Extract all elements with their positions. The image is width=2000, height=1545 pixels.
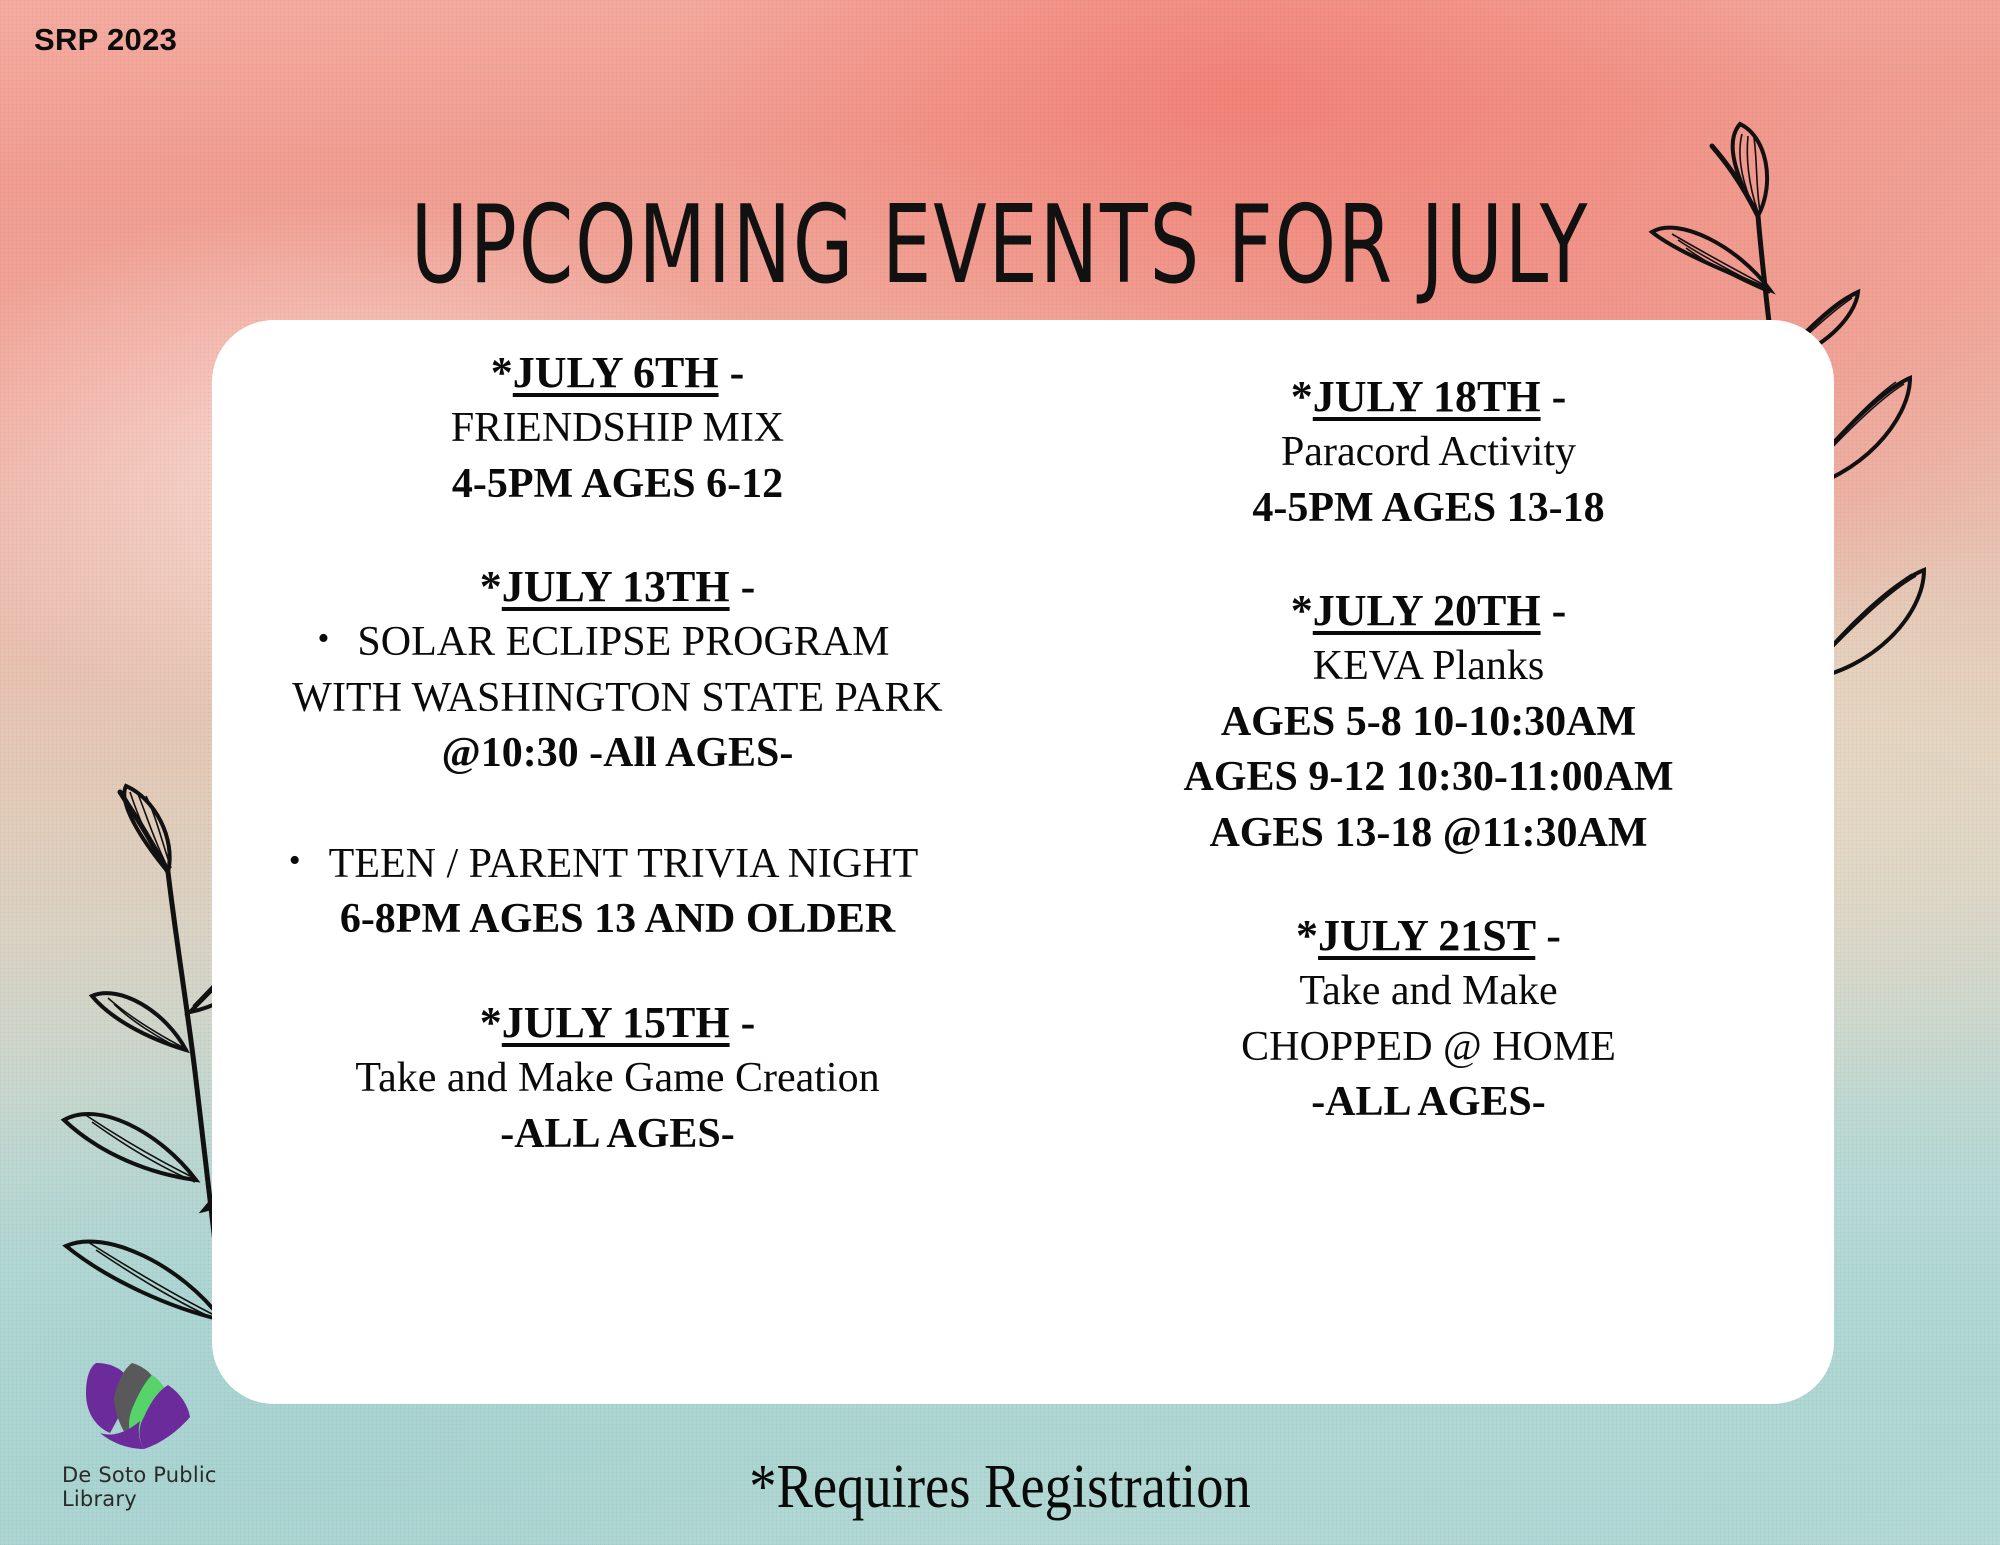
event-block: *JULY 18TH -Paracord Activity4-5PM AGES … xyxy=(1047,368,1810,536)
event-date: JULY 15TH xyxy=(502,998,730,1047)
event-date-dash: - xyxy=(1541,372,1567,421)
events-card: *JULY 6TH -FRIENDSHIP MIX4-5PM AGES 6-12… xyxy=(212,320,1834,1404)
asterisk-marker: * xyxy=(1296,911,1318,960)
event-date-heading: *JULY 13TH - xyxy=(236,558,999,615)
event-date-heading: *JULY 18TH - xyxy=(1047,368,1810,425)
event-detail-line: KEVA Planks xyxy=(1047,639,1810,694)
event-detail-line: @10:30 -All AGES- xyxy=(236,726,999,781)
srp-year-tag: SRP 2023 xyxy=(34,22,177,58)
asterisk-marker: * xyxy=(480,562,502,611)
event-detail-line: AGES 5-8 10-10:30AM xyxy=(1047,695,1810,750)
event-detail-line: FRIENDSHIP MIX xyxy=(236,401,999,456)
event-block: *JULY 6TH -FRIENDSHIP MIX4-5PM AGES 6-12 xyxy=(236,344,999,512)
event-date: JULY 6TH xyxy=(513,348,719,397)
open-book-fan-icon xyxy=(80,1357,198,1457)
event-detail-line: 6-8PM AGES 13 AND OLDER xyxy=(236,892,999,947)
event-detail-line: Paracord Activity xyxy=(1047,425,1810,480)
event-date-heading: *JULY 15TH - xyxy=(236,994,999,1051)
events-columns: *JULY 6TH -FRIENDSHIP MIX4-5PM AGES 6-12… xyxy=(212,320,1834,1404)
event-date: JULY 21ST xyxy=(1318,911,1535,960)
event-date-heading: *JULY 21ST - xyxy=(1047,907,1810,964)
library-name: De Soto Public Library xyxy=(62,1463,292,1511)
event-date-dash: - xyxy=(730,998,756,1047)
events-column-left: *JULY 6TH -FRIENDSHIP MIX4-5PM AGES 6-12… xyxy=(212,320,1023,1404)
event-date-dash: - xyxy=(719,348,745,397)
event-date-dash: - xyxy=(730,562,756,611)
registration-note: *Requires Registration xyxy=(120,1452,1880,1523)
event-detail-line: 4-5PM AGES 6-12 xyxy=(236,457,999,512)
event-block: *JULY 13TH -SOLAR ECLIPSE PROGRAMWITH WA… xyxy=(236,558,999,948)
event-date: JULY 18TH xyxy=(1313,372,1541,421)
event-detail-line: 4-5PM AGES 13-18 xyxy=(1047,481,1810,536)
events-column-right: *JULY 18TH -Paracord Activity4-5PM AGES … xyxy=(1023,320,1834,1404)
asterisk-marker: * xyxy=(1291,586,1313,635)
asterisk-marker: * xyxy=(491,348,513,397)
event-detail-line: -ALL AGES- xyxy=(1047,1075,1810,1130)
event-date-heading: *JULY 20TH - xyxy=(1047,582,1810,639)
event-block: *JULY 21ST -Take and MakeCHOPPED @ HOME-… xyxy=(1047,907,1810,1131)
event-detail-line: SOLAR ECLIPSE PROGRAM xyxy=(236,615,999,670)
event-detail-line: Take and Make Game Creation xyxy=(236,1051,999,1106)
event-detail-line: WITH WASHINGTON STATE PARK xyxy=(236,671,999,726)
event-date-dash: - xyxy=(1535,911,1561,960)
event-date-dash: - xyxy=(1541,586,1567,635)
asterisk-marker: * xyxy=(480,998,502,1047)
event-detail-line: -ALL AGES- xyxy=(236,1107,999,1162)
event-block: *JULY 15TH -Take and Make Game Creation-… xyxy=(236,994,999,1162)
library-logo: De Soto Public Library xyxy=(62,1357,292,1511)
event-poster: SRP 2023 UPCOMING EVENTS FOR JULY *JULY … xyxy=(0,0,2000,1545)
asterisk-marker: * xyxy=(1291,372,1313,421)
event-detail-line: CHOPPED @ HOME xyxy=(1047,1020,1810,1075)
event-detail-line: Take and Make xyxy=(1047,964,1810,1019)
event-date-heading: *JULY 6TH - xyxy=(236,344,999,401)
event-detail-line: AGES 13-18 @11:30AM xyxy=(1047,806,1810,861)
event-spacer xyxy=(236,782,999,837)
event-date: JULY 20TH xyxy=(1313,586,1541,635)
event-detail-line: TEEN / PARENT TRIVIA NIGHT xyxy=(236,837,999,892)
event-block: *JULY 20TH -KEVA PlanksAGES 5-8 10-10:30… xyxy=(1047,582,1810,861)
event-date: JULY 13TH xyxy=(502,562,730,611)
event-detail-line: AGES 9-12 10:30-11:00AM xyxy=(1047,750,1810,805)
page-title: UPCOMING EVENTS FOR JULY xyxy=(70,182,1930,307)
